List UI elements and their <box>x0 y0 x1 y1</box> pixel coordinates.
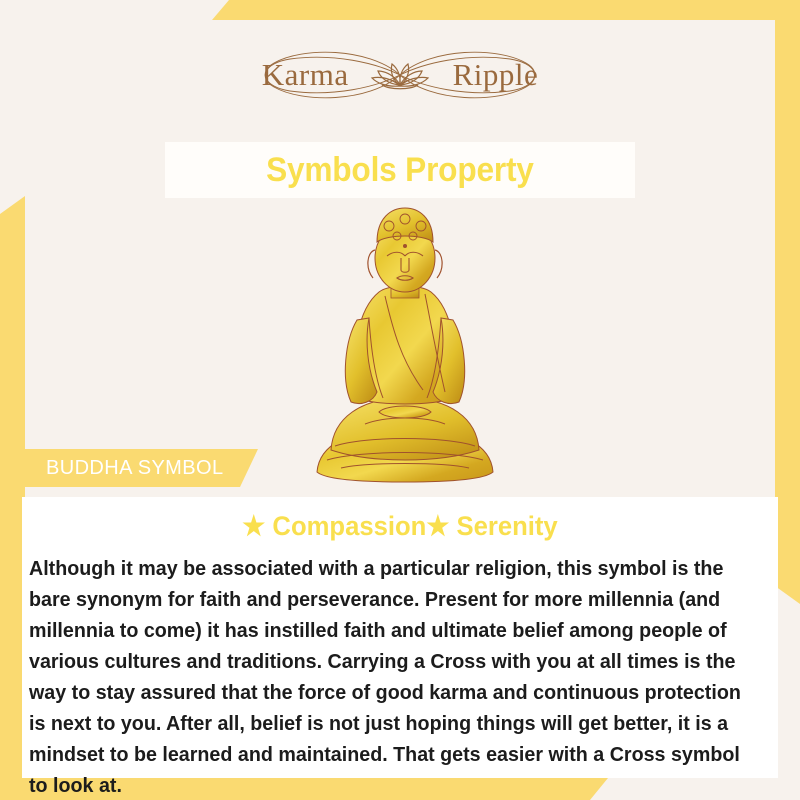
badge-label: BUDDHA SYMBOL <box>18 457 223 480</box>
poster-canvas: Karma Ripple Symbols Property <box>0 0 800 800</box>
title-band: Symbols Property <box>165 142 635 198</box>
content-panel: ★ Compassion★ Serenity Although it may b… <box>22 497 778 778</box>
golden-seated-buddha-icon <box>305 200 505 485</box>
page-title: Symbols Property <box>266 151 534 190</box>
attributes-subtitle: ★ Compassion★ Serenity <box>41 511 759 542</box>
description-text: Although it may be associated with a par… <box>29 553 741 800</box>
buddha-statue-image <box>305 200 505 485</box>
accent-bar-top <box>212 0 800 20</box>
category-badge: BUDDHA SYMBOL <box>18 449 258 487</box>
brand-logo: Karma Ripple <box>0 40 800 110</box>
brand-name-left: Karma <box>262 57 349 93</box>
brand-name-right: Ripple <box>453 57 539 93</box>
